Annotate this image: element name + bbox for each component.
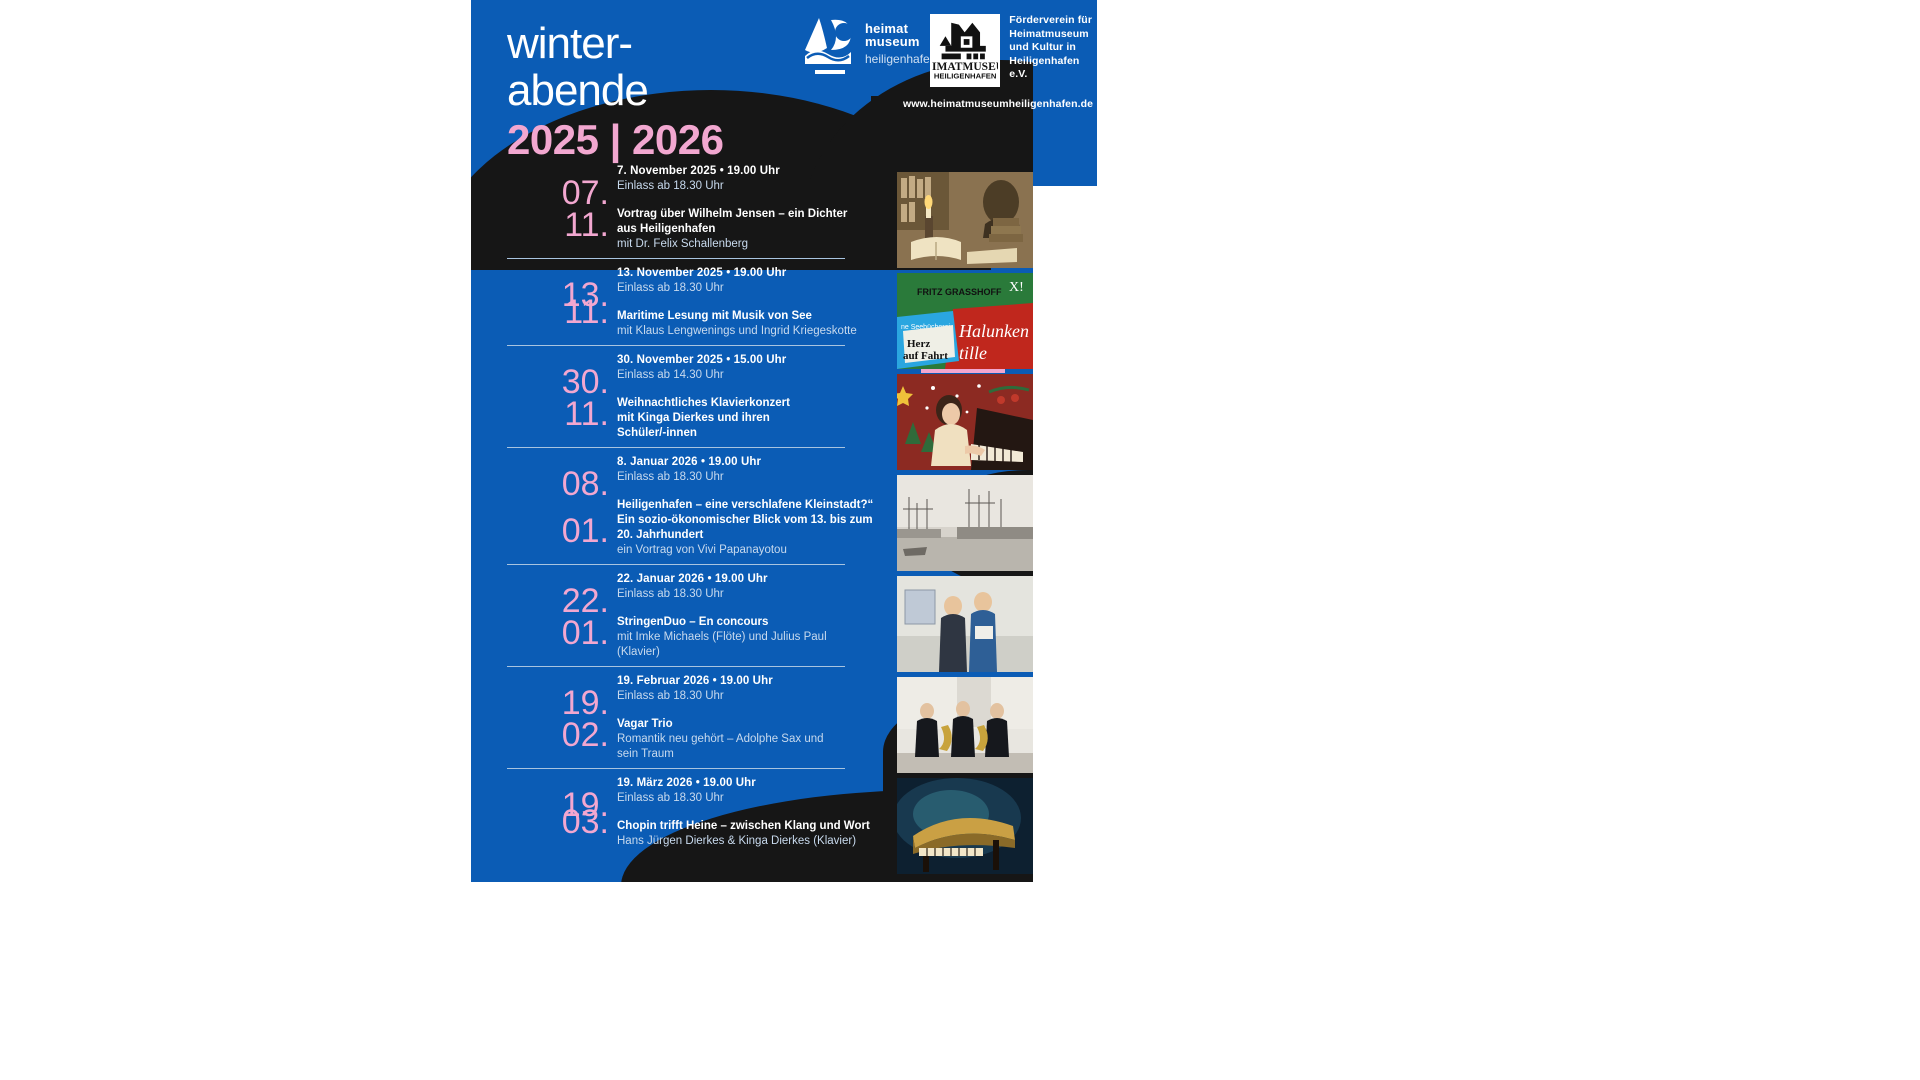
event-date: 19. Februar 2026 • 19.00 Uhr [617, 674, 887, 689]
event-month-number: 03. [562, 805, 617, 839]
foerderverein-line4: Heiligenhafen e.V. [1009, 55, 1097, 82]
foerderverein-line2: Heimatmuseum [1009, 28, 1097, 42]
event-text-column: 8. Januar 2026 • 19.00 UhrEinlass ab 18.… [617, 455, 887, 558]
event-image-trio-saxophones [897, 677, 1033, 773]
foerderverein-text: Förderverein für Heimatmuseum und Kultur… [1009, 14, 1097, 82]
foerderverein-block: HEIMATMUSEUM HEILIGENHAFEN Förderverein … [930, 14, 1097, 87]
event-item: 22.01.22. Januar 2026 • 19.00 UhrEinlass… [507, 572, 887, 674]
event-divider [507, 258, 845, 259]
event-title-line: StringenDuo – En concours [617, 615, 887, 630]
event-subtitle-line: mit Dr. Felix Schallenberg [617, 237, 887, 252]
svg-text:Herz: Herz [907, 338, 930, 350]
event-month-number: 11. [564, 295, 617, 329]
event-item: 19.02.19. Februar 2026 • 19.00 UhrEinlas… [507, 674, 887, 776]
event-title-line: Heiligenhafen – eine verschlafene Kleins… [617, 498, 887, 513]
event-text-column: 7. November 2025 • 19.00 UhrEinlass ab 1… [617, 164, 887, 252]
poster-right-white-cut [1033, 186, 1097, 882]
event-text-column: 13. November 2025 • 19.00 UhrEinlass ab … [617, 266, 887, 339]
heimatmuseum-logo: heimat museum heiligenhafen [801, 16, 936, 78]
foerderverein-line3: und Kultur in [1009, 41, 1097, 55]
event-text-column: 30. November 2025 • 15.00 UhrEinlass ab … [617, 353, 887, 441]
winterabende-poster: winter- abende 2025 | 2026 heimat museum… [471, 0, 1097, 882]
event-day-column: 19.02. [507, 674, 617, 762]
event-divider [507, 768, 845, 769]
event-title-line: 20. Jahrhundert [617, 528, 887, 543]
event-day-number: 22. [562, 584, 617, 618]
event-image-grand-piano-golden-light [897, 778, 1033, 874]
event-day-column: 30.11. [507, 353, 617, 441]
event-item: 30.11.30. November 2025 • 15.00 UhrEinla… [507, 353, 887, 455]
svg-text:tille: tille [959, 343, 987, 363]
event-day-column: 13.11. [507, 266, 617, 339]
event-admission-time: Einlass ab 18.30 Uhr [617, 179, 887, 194]
event-text-column: 19. Februar 2026 • 19.00 UhrEinlass ab 1… [617, 674, 887, 762]
event-date: 22. Januar 2026 • 19.00 Uhr [617, 572, 887, 587]
svg-text:FRITZ GRASSHOFF: FRITZ GRASSHOFF [917, 287, 1002, 297]
event-day-number: 07. [562, 176, 617, 210]
event-admission-time: Einlass ab 18.30 Uhr [617, 587, 887, 602]
event-subtitle-line: sein Traum [617, 747, 887, 762]
event-image-drawing-writer-candle-books [897, 172, 1033, 268]
event-month-number: 01. [562, 616, 617, 650]
svg-text:HEILIGENHAFEN: HEILIGENHAFEN [934, 72, 997, 81]
event-title-line: Schüler/-innen [617, 426, 887, 441]
event-image-book-covers-fritz-grasshoff: FRITZ GRASSHOFF X! Halunken tille ne See… [897, 273, 1033, 369]
event-day-column: 19.03. [507, 776, 617, 849]
event-date: 13. November 2025 • 19.00 Uhr [617, 266, 887, 281]
event-image-duo-performing [897, 576, 1033, 672]
poster-title-line2: abende [507, 67, 648, 114]
event-admission-time: Einlass ab 18.30 Uhr [617, 281, 887, 296]
event-title-line: Maritime Lesung mit Musik von See [617, 309, 887, 324]
svg-text:Halunken: Halunken [958, 321, 1029, 341]
event-image-girl-at-piano-christmas [897, 374, 1033, 470]
event-title-line: Vortrag über Wilhelm Jensen – ein Dichte… [617, 207, 887, 222]
event-day-number: 08. [562, 467, 617, 501]
event-date: 30. November 2025 • 15.00 Uhr [617, 353, 887, 368]
poster-title: winter- abende [507, 20, 648, 114]
event-date: 7. November 2025 • 19.00 Uhr [617, 164, 887, 179]
event-item: 19.03.19. März 2026 • 19.00 UhrEinlass a… [507, 776, 887, 856]
picture-column: FRITZ GRASSHOFF X! Halunken tille ne See… [897, 172, 1033, 879]
event-title-line: aus Heiligenhafen [617, 222, 887, 237]
event-date: 19. März 2026 • 19.00 Uhr [617, 776, 887, 791]
event-list: 07.11.7. November 2025 • 19.00 UhrEinlas… [507, 164, 887, 856]
event-subtitle-line: ein Vortrag von Vivi Papanayotou [617, 543, 887, 558]
event-month-number: 01. [562, 514, 617, 548]
event-subtitle-line: Romantik neu gehört – Adolphe Sax und [617, 732, 887, 747]
screenshot-canvas: winter- abende 2025 | 2026 heimat museum… [0, 0, 1920, 1080]
event-item: 13.11.13. November 2025 • 19.00 UhrEinla… [507, 266, 887, 353]
event-subtitle-line: Hans Jürgen Dierkes & Kinga Dierkes (Kla… [617, 834, 887, 849]
event-admission-time: Einlass ab 18.30 Uhr [617, 470, 887, 485]
poster-season-years: 2025 | 2026 [507, 116, 723, 164]
event-subtitle-line: mit Klaus Lengwenings und Ingrid Krieges… [617, 324, 887, 339]
event-date: 8. Januar 2026 • 19.00 Uhr [617, 455, 887, 470]
event-month-number: 11. [564, 397, 617, 431]
event-item: 07.11.7. November 2025 • 19.00 UhrEinlas… [507, 164, 887, 266]
poster-title-line1: winter- [507, 20, 648, 67]
event-subtitle-line: mit Imke Michaels (Flöte) und Julius Pau… [617, 630, 887, 645]
event-subtitle-line: (Klavier) [617, 645, 887, 660]
event-title-line: Chopin trifft Heine – zwischen Klang und… [617, 819, 887, 834]
event-divider [507, 666, 845, 667]
heimatmuseum-logo-words: heimat museum heiligenhafen [865, 16, 936, 65]
event-day-column: 08.01. [507, 455, 617, 558]
event-item: 08.01.8. Januar 2026 • 19.00 UhrEinlass … [507, 455, 887, 572]
event-admission-time: Einlass ab 18.30 Uhr [617, 791, 887, 806]
event-image-historic-harbour-photo [897, 475, 1033, 571]
event-month-number: 02. [562, 718, 617, 752]
event-title-line: Weihnachtliches Klavierkonzert [617, 396, 887, 411]
event-title-line: mit Kinga Dierkes und ihren [617, 411, 887, 426]
event-title-line: Vagar Trio [617, 717, 887, 732]
event-day-number: 30. [562, 365, 617, 399]
heimatmuseum-logo-line2: museum [865, 35, 936, 48]
svg-text:X!: X! [1009, 280, 1024, 295]
event-text-column: 19. März 2026 • 19.00 UhrEinlass ab 18.3… [617, 776, 887, 849]
website-url[interactable]: www.heimatmuseumheiligenhafen.de [903, 98, 1093, 110]
event-divider [507, 564, 845, 565]
event-month-number: 11. [564, 208, 617, 242]
event-divider [507, 345, 845, 346]
svg-text:auf Fahrt: auf Fahrt [903, 350, 948, 362]
heimatmuseum-logo-line3: heiligenhafen [865, 53, 936, 65]
foerderverein-line1: Förderverein für [1009, 14, 1097, 28]
event-day-column: 07.11. [507, 164, 617, 252]
event-day-column: 22.01. [507, 572, 617, 660]
heimatmuseum-sail-icon [801, 16, 855, 78]
heimatmuseum-house-stamp-icon: HEIMATMUSEUM HEILIGENHAFEN [930, 14, 1000, 87]
event-day-number: 19. [562, 686, 617, 720]
event-admission-time: Einlass ab 14.30 Uhr [617, 368, 887, 383]
event-divider [507, 447, 845, 448]
event-admission-time: Einlass ab 18.30 Uhr [617, 689, 887, 704]
event-text-column: 22. Januar 2026 • 19.00 UhrEinlass ab 18… [617, 572, 887, 660]
event-title-line: Ein sozio-ökonomischer Blick vom 13. bis… [617, 513, 887, 528]
